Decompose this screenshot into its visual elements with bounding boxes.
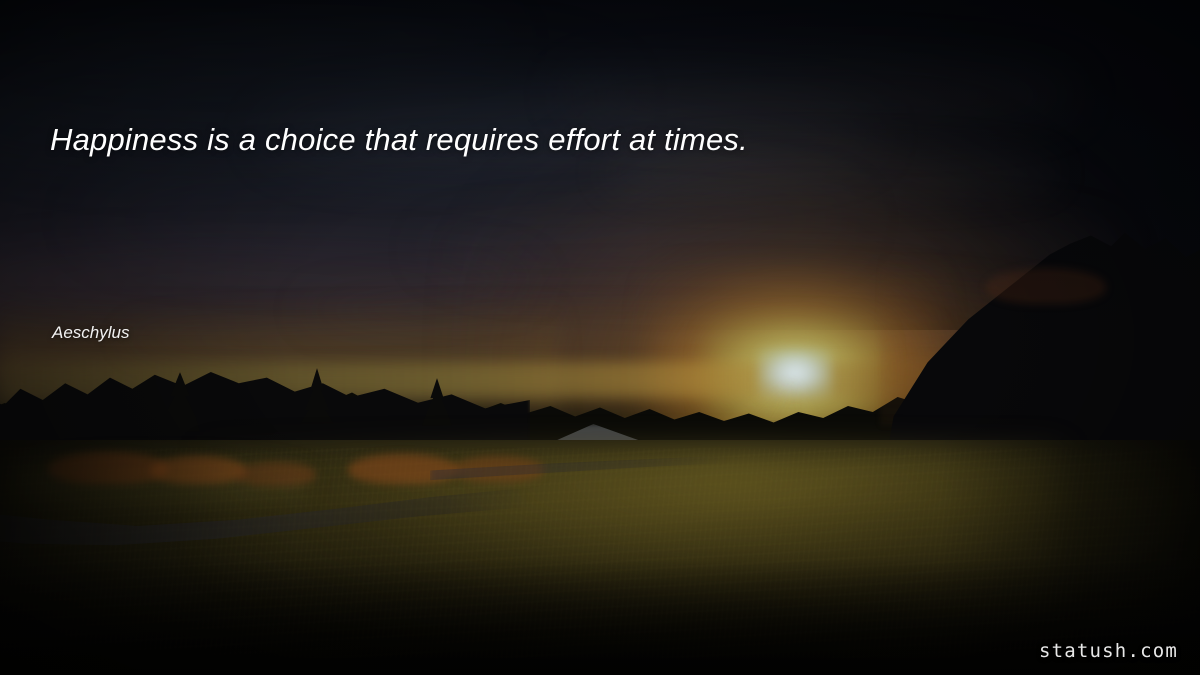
text-overlay: Happiness is a choice that requires effo…	[0, 0, 1200, 675]
site-watermark: statush.com	[1039, 640, 1178, 662]
quote-author: Aeschylus	[52, 322, 129, 344]
quote-image-card: Happiness is a choice that requires effo…	[0, 0, 1200, 675]
quote-text: Happiness is a choice that requires effo…	[50, 120, 1140, 160]
